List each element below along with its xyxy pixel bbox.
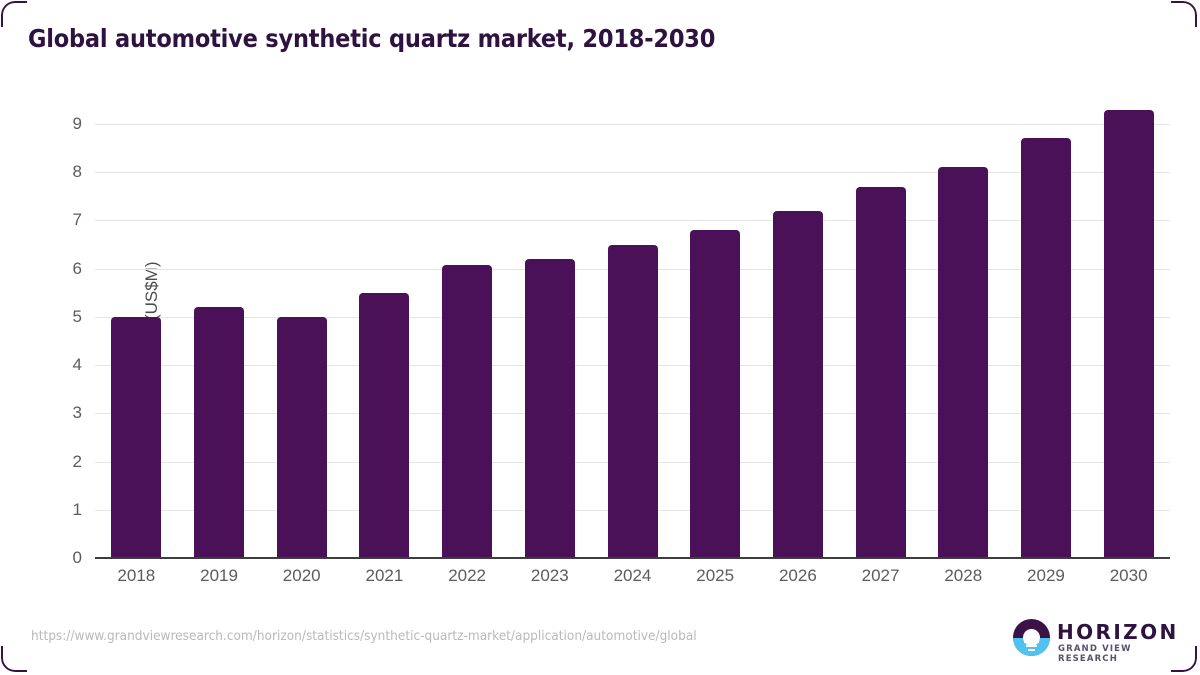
- x-tick-label-2028: 2028: [922, 566, 1005, 586]
- chart-figure: Global automotive synthetic quartz marke…: [0, 0, 1200, 675]
- x-tick-label-2018: 2018: [95, 566, 178, 586]
- y-tick-label-0: 0: [4, 548, 82, 568]
- x-tick-label-2023: 2023: [508, 566, 591, 586]
- chart-title: Global automotive synthetic quartz marke…: [28, 24, 715, 53]
- y-tick-label-9: 9: [4, 114, 82, 134]
- y-tick-label-6: 6: [4, 259, 82, 279]
- gridline-7: [95, 220, 1170, 221]
- logo-tagline: GRAND VIEW RESEARCH: [1058, 644, 1161, 664]
- x-tick-label-2024: 2024: [591, 566, 674, 586]
- x-tick-label-2029: 2029: [1005, 566, 1088, 586]
- y-tick-label-2: 2: [4, 452, 82, 472]
- logo-sun-shape: [1023, 629, 1040, 646]
- bar-2026[interactable]: [773, 211, 823, 558]
- x-tick-label-2030: 2030: [1087, 566, 1170, 586]
- x-tick-label-2027: 2027: [839, 566, 922, 586]
- y-tick-label-5: 5: [4, 307, 82, 327]
- logo-ray-1: [1024, 641, 1039, 643]
- x-tick-label-2022: 2022: [426, 566, 509, 586]
- y-tick-label-3: 3: [4, 403, 82, 423]
- gridline-9: [95, 124, 1170, 125]
- bar-2022[interactable]: [442, 265, 492, 558]
- source-url[interactable]: https://www.grandviewresearch.com/horizo…: [31, 628, 697, 644]
- y-tick-label-8: 8: [4, 162, 82, 182]
- x-tick-label-2020: 2020: [260, 566, 343, 586]
- x-axis-line: [95, 557, 1170, 559]
- bar-2029[interactable]: [1021, 138, 1071, 558]
- y-tick-label-1: 1: [4, 500, 82, 520]
- gridline-8: [95, 172, 1170, 173]
- bar-2021[interactable]: [359, 293, 409, 558]
- logo-ray-3: [1028, 649, 1035, 651]
- y-tick-label-7: 7: [4, 210, 82, 230]
- horizon-logo[interactable]: HORIZON GRAND VIEW RESEARCH: [1013, 617, 1161, 659]
- bar-2019[interactable]: [194, 307, 244, 558]
- y-axis-tick-labels: 0123456789: [0, 0, 82, 675]
- x-tick-label-2019: 2019: [178, 566, 261, 586]
- bar-2024[interactable]: [608, 245, 658, 558]
- x-tick-label-2021: 2021: [343, 566, 426, 586]
- bar-2020[interactable]: [277, 317, 327, 558]
- plot-area: [95, 124, 1170, 558]
- bar-2027[interactable]: [856, 187, 906, 558]
- logo-ray-2: [1026, 645, 1037, 647]
- bar-2028[interactable]: [938, 167, 988, 558]
- x-tick-label-2026: 2026: [757, 566, 840, 586]
- bar-2023[interactable]: [525, 259, 575, 558]
- x-tick-label-2025: 2025: [674, 566, 757, 586]
- bar-2018[interactable]: [111, 317, 161, 558]
- y-tick-label-4: 4: [4, 355, 82, 375]
- bar-2025[interactable]: [690, 230, 740, 558]
- horizon-sunrise-icon: [1013, 619, 1050, 656]
- logo-wordmark: HORIZON: [1057, 620, 1179, 644]
- bar-2030[interactable]: [1104, 110, 1154, 558]
